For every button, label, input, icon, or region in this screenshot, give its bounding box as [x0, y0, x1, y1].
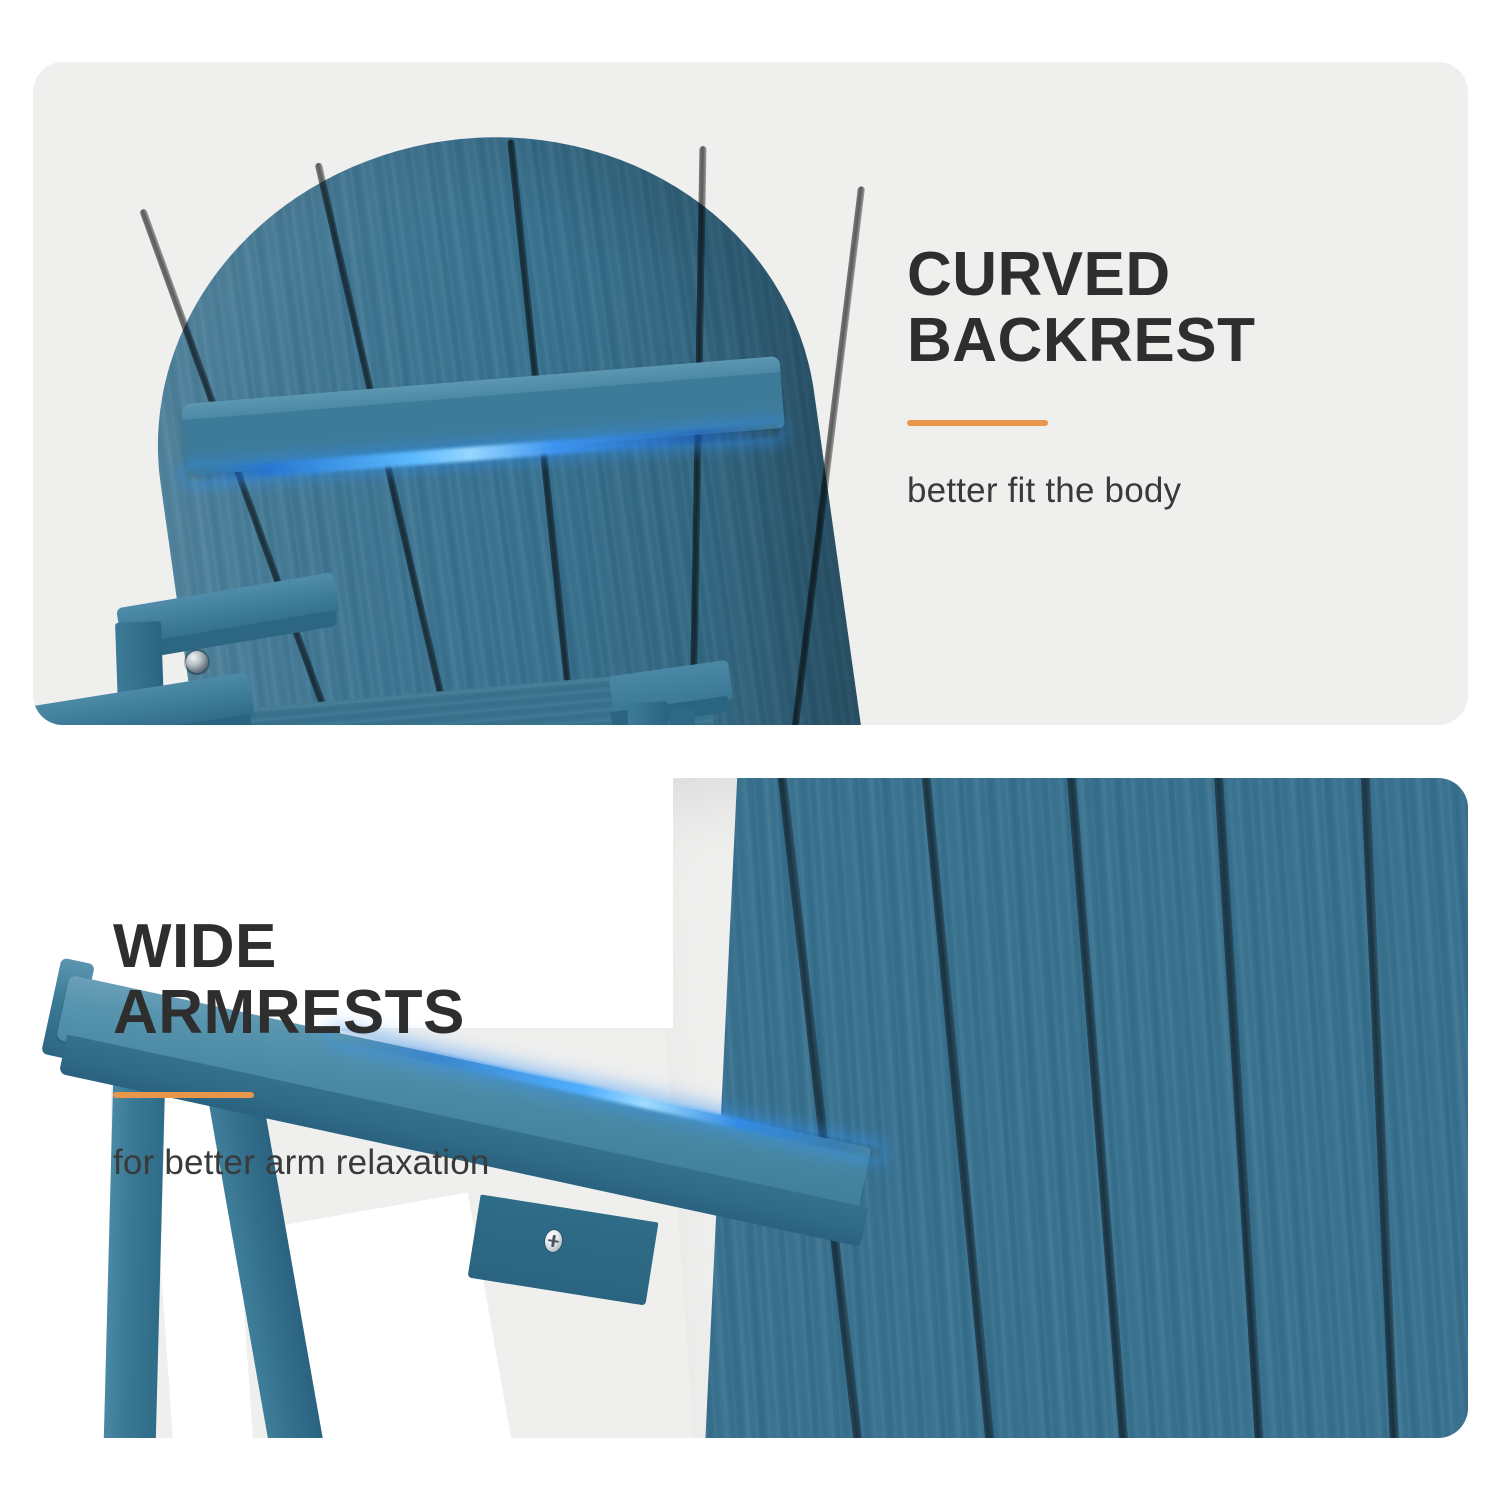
photo-negative-space	[33, 1028, 111, 1438]
bolt-icon	[186, 651, 208, 673]
wide-armrests-subline: for better arm relaxation	[113, 1143, 673, 1183]
feature-panel-curved-backrest: CURVED BACKREST better fit the body	[33, 62, 1468, 725]
accent-rule	[907, 420, 1048, 426]
backrest-wood-surface	[648, 778, 1468, 1438]
chair-backrest-large	[648, 778, 1468, 1438]
wide-armrests-headline: WIDE ARMRESTS	[113, 914, 673, 1046]
curved-backrest-subline: better fit the body	[907, 471, 1427, 511]
accent-rule	[113, 1092, 254, 1098]
armrest-support-bracket	[468, 1194, 659, 1305]
chair-leg	[669, 708, 695, 725]
wide-armrests-text-block: WIDE ARMRESTS for better arm relaxation	[113, 914, 673, 1183]
chair-leg	[627, 701, 670, 725]
curved-backrest-headline: CURVED BACKREST	[907, 242, 1427, 374]
feature-panel-wide-armrests: WIDE ARMRESTS for better arm relaxation	[33, 778, 1468, 1438]
curved-backrest-text-block: CURVED BACKREST better fit the body	[907, 242, 1427, 511]
product-feature-page: CURVED BACKREST better fit the body	[0, 0, 1500, 1500]
